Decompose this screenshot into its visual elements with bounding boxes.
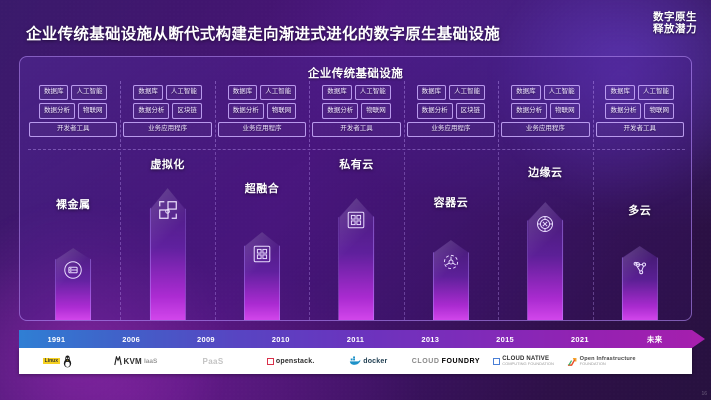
openstack-logo[interactable]: openstack. (252, 358, 330, 365)
pillar-label: 容器云 (404, 194, 498, 210)
tag-divider (28, 149, 685, 150)
timeline-year: 2010 (243, 335, 318, 344)
pillar-cell[interactable]: 裸金属 (26, 152, 120, 320)
tag-line: 数据库人工智能 (501, 85, 589, 100)
brand-logo-line1: 数字原生 (653, 11, 697, 23)
cloud-native-logo[interactable]: CLOUD NATIVECOMPUTING FOUNDATION (485, 356, 563, 367)
capability-tag[interactable]: 数据分析 (39, 103, 75, 118)
tag-line: 数据分析区块链 (407, 103, 495, 118)
tag-group: 数据库人工智能数据分析物联网开发者工具 (593, 85, 687, 145)
capability-tag-wide[interactable]: 业务应用程序 (501, 122, 589, 138)
capability-tag[interactable]: 数据库 (605, 85, 635, 100)
capability-tag[interactable]: 数据库 (228, 85, 258, 100)
capability-tag[interactable]: 人工智能 (71, 85, 107, 100)
tag-line: 数据分析区块链 (123, 103, 211, 118)
pillar-cell[interactable]: 多云 (593, 152, 687, 320)
pillar-label: 多云 (593, 202, 687, 218)
tag-group: 数据库人工智能数据分析区块链业务应用程序 (120, 85, 214, 145)
pillar-bar (244, 232, 280, 320)
timeline-year: 2009 (169, 335, 244, 344)
capability-tag-wide[interactable]: 业务应用程序 (218, 122, 306, 138)
tag-line: 数据库人工智能 (123, 85, 211, 100)
capability-tag-wide[interactable]: 业务应用程序 (123, 122, 211, 138)
tag-line: 数据分析物联网 (29, 103, 117, 118)
capability-tag[interactable]: 数据库 (133, 85, 163, 100)
pillar-label: 超融合 (215, 180, 309, 196)
slide-header: 企业传统基础设施从断代式构建走向渐进式进化的数字原生基础设施 数字原生 释放潜力 (0, 0, 711, 52)
grid-four-icon (251, 243, 273, 265)
edge-node-icon (534, 213, 556, 235)
pillar-bar (527, 202, 563, 320)
timeline-year: 2013 (393, 335, 468, 344)
capability-tag[interactable]: 数据分析 (322, 103, 358, 118)
capability-tag[interactable]: 物联网 (78, 103, 108, 118)
brand-logo-line2: 释放潜力 (653, 23, 697, 35)
tag-group: 数据库人工智能数据分析物联网开发者工具 (309, 85, 403, 145)
tag-line: 数据分析物联网 (218, 103, 306, 118)
capability-tag[interactable]: 数据分析 (417, 103, 453, 118)
timeline-year: 1991 (19, 335, 94, 344)
technology-timeline: 19912006200920102011201320152021未来 Linux… (19, 330, 692, 382)
multicloud-icon (629, 257, 651, 279)
tag-line: 数据库人工智能 (596, 85, 684, 100)
evolution-pillars: 裸金属虚拟化超融合私有云容器云边缘云多云 (26, 152, 687, 320)
panel-title: 企业传统基础设施 (20, 65, 691, 81)
capability-tag[interactable]: 人工智能 (544, 85, 580, 100)
capability-tag-wide[interactable]: 业务应用程序 (407, 122, 495, 138)
paas-label[interactable]: PaaS (174, 357, 252, 366)
capability-tag[interactable]: 物联网 (267, 103, 297, 118)
tag-line: 数据库人工智能 (312, 85, 400, 100)
capability-tag[interactable]: 区块链 (172, 103, 202, 118)
brand-logo: 数字原生 释放潜力 (653, 11, 697, 36)
capability-tag-wide[interactable]: 开发者工具 (29, 122, 117, 138)
capability-tag[interactable]: 物联网 (550, 103, 580, 118)
docker-logo[interactable]: docker (330, 356, 408, 366)
virtualization-icon (157, 199, 179, 221)
pillar-cell[interactable]: 虚拟化 (120, 152, 214, 320)
timeline-year: 2011 (318, 335, 393, 344)
pillar-bar (55, 248, 91, 320)
capability-tag[interactable]: 人工智能 (638, 85, 674, 100)
pillar-bar (338, 198, 374, 320)
pillar-label: 私有云 (309, 156, 403, 172)
capability-tag[interactable]: 区块链 (456, 103, 486, 118)
capability-tag[interactable]: 数据分析 (605, 103, 641, 118)
capability-tag-wide[interactable]: 开发者工具 (596, 122, 684, 138)
tag-group: 数据库人工智能数据分析物联网业务应用程序 (215, 85, 309, 145)
timeline-year: 2021 (542, 335, 617, 344)
tag-group: 数据库人工智能数据分析物联网业务应用程序 (498, 85, 592, 145)
capability-tag[interactable]: 人工智能 (260, 85, 296, 100)
capability-tag[interactable]: 数据库 (39, 85, 69, 100)
pillar-cell[interactable]: 私有云 (309, 152, 403, 320)
tag-line: 数据分析物联网 (312, 103, 400, 118)
timeline-year: 未来 (617, 334, 692, 345)
timeline-logos: LinuxKVMIaaSPaaSopenstack.dockerCLOUDFOU… (19, 348, 692, 374)
tag-line: 数据库人工智能 (29, 85, 117, 100)
pillar-label: 裸金属 (26, 196, 120, 212)
timeline-year: 2006 (94, 335, 169, 344)
pillar-cell[interactable]: 超融合 (215, 152, 309, 320)
infrastructure-panel: 企业传统基础设施 数据库人工智能数据分析物联网开发者工具数据库人工智能数据分析区… (19, 56, 692, 321)
pillar-bar (150, 188, 186, 320)
capability-tag[interactable]: 数据库 (417, 85, 447, 100)
grid-four-icon (345, 209, 367, 231)
linux-logo[interactable]: Linux (19, 354, 97, 368)
timeline-years: 19912006200920102011201320152021未来 (19, 330, 692, 348)
pillar-bar (433, 240, 469, 320)
slide-canvas: 企业传统基础设施从断代式构建走向渐进式进化的数字原生基础设施 数字原生 释放潜力… (0, 0, 711, 400)
capability-tag[interactable]: 数据分析 (511, 103, 547, 118)
server-circle-icon (62, 259, 84, 281)
tag-line: 数据分析物联网 (501, 103, 589, 118)
capability-tag[interactable]: 人工智能 (166, 85, 202, 100)
page-number: 16 (701, 391, 707, 397)
capability-tag[interactable]: 数据分析 (228, 103, 264, 118)
tag-line: 数据库人工智能 (218, 85, 306, 100)
pillar-cell[interactable]: 容器云 (404, 152, 498, 320)
pillar-label: 边缘云 (498, 164, 592, 180)
kvm-iaas-logo[interactable]: KVMIaaS (97, 356, 175, 366)
capability-tag[interactable]: 数据分析 (133, 103, 169, 118)
capability-tag-wide[interactable]: 开发者工具 (312, 122, 400, 138)
pillar-label: 虚拟化 (120, 156, 214, 172)
pillar-bar (622, 246, 658, 320)
capability-tag[interactable]: 数据库 (511, 85, 541, 100)
capability-tag[interactable]: 数据库 (322, 85, 352, 100)
capability-tag-row: 数据库人工智能数据分析物联网开发者工具数据库人工智能数据分析区块链业务应用程序数… (26, 85, 687, 145)
pillar-cell[interactable]: 边缘云 (498, 152, 592, 320)
open-infrastructure-logo[interactable]: Open InfrastructureFOUNDATION (562, 356, 640, 367)
page-title: 企业传统基础设施从断代式构建走向渐进式进化的数字原生基础设施 (26, 22, 500, 44)
tag-line: 数据分析物联网 (596, 103, 684, 118)
capability-tag[interactable]: 人工智能 (355, 85, 391, 100)
capability-tag[interactable]: 人工智能 (449, 85, 485, 100)
capability-tag[interactable]: 物联网 (644, 103, 674, 118)
tag-line: 数据库人工智能 (407, 85, 495, 100)
tag-group: 数据库人工智能数据分析物联网开发者工具 (26, 85, 120, 145)
cloudfoundry-logo[interactable]: CLOUDFOUNDRY (407, 358, 485, 365)
timeline-year: 2015 (468, 335, 543, 344)
capability-tag[interactable]: 物联网 (361, 103, 391, 118)
container-icon (440, 251, 462, 273)
tag-group: 数据库人工智能数据分析区块链业务应用程序 (404, 85, 498, 145)
